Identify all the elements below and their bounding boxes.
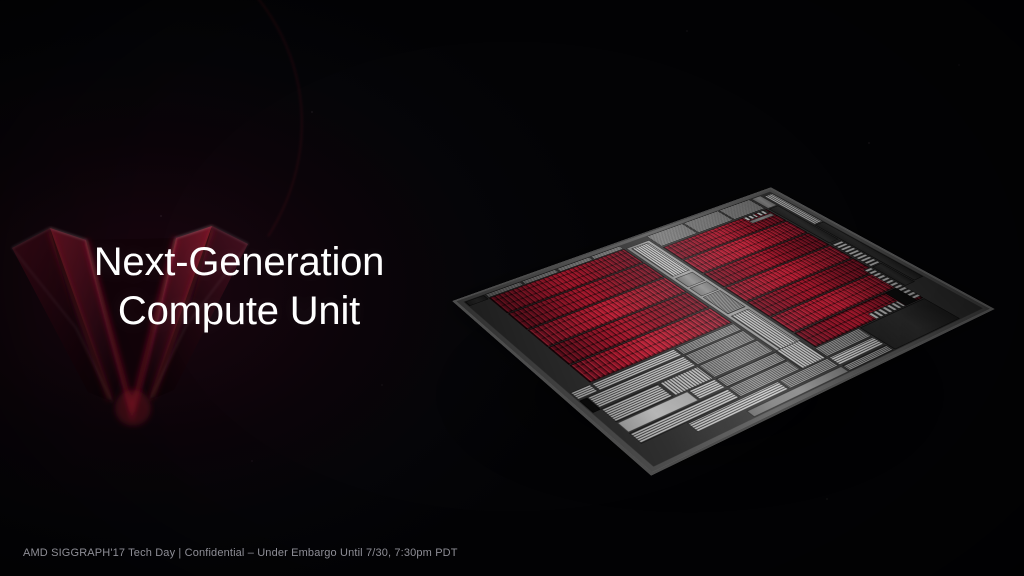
die-surface bbox=[456, 189, 990, 472]
footer-confidentiality-notice: AMD SIGGRAPH'17 Tech Day | Confidential … bbox=[23, 545, 458, 561]
presentation-slide: Next-Generation Compute Unit AMD SIGGRAP… bbox=[0, 0, 1024, 576]
gpu-die-shot bbox=[430, 100, 1010, 500]
